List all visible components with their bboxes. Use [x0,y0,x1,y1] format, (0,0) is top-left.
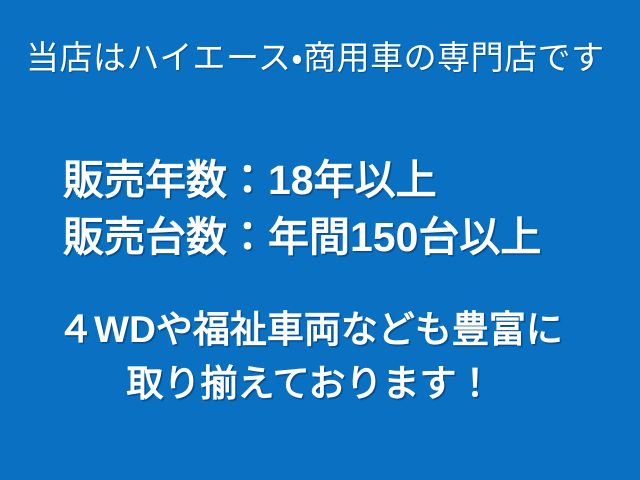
sales-stats-block: 販売年数：18年以上 販売台数：年間150台以上 [63,152,583,266]
inventory-block: ４WDや福祉車両なども豊富に 取り揃えております！ [0,303,620,411]
header: 当店はハイエース・商用車の専門店です [0,36,640,88]
stat-line-sales-years: 販売年数：18年以上 [63,152,583,209]
inventory-line-vehicle-types: ４WDや福祉車両なども豊富に [0,303,620,357]
promo-slide: 当店はハイエース・商用車の専門店です 販売年数：18年以上 販売台数：年間150… [0,0,640,480]
stat-line-sales-units: 販売台数：年間150台以上 [63,209,583,266]
page-title: 当店はハイエース・商用車の専門店です [26,36,605,80]
inventory-line-availability: 取り揃えております！ [0,357,620,411]
